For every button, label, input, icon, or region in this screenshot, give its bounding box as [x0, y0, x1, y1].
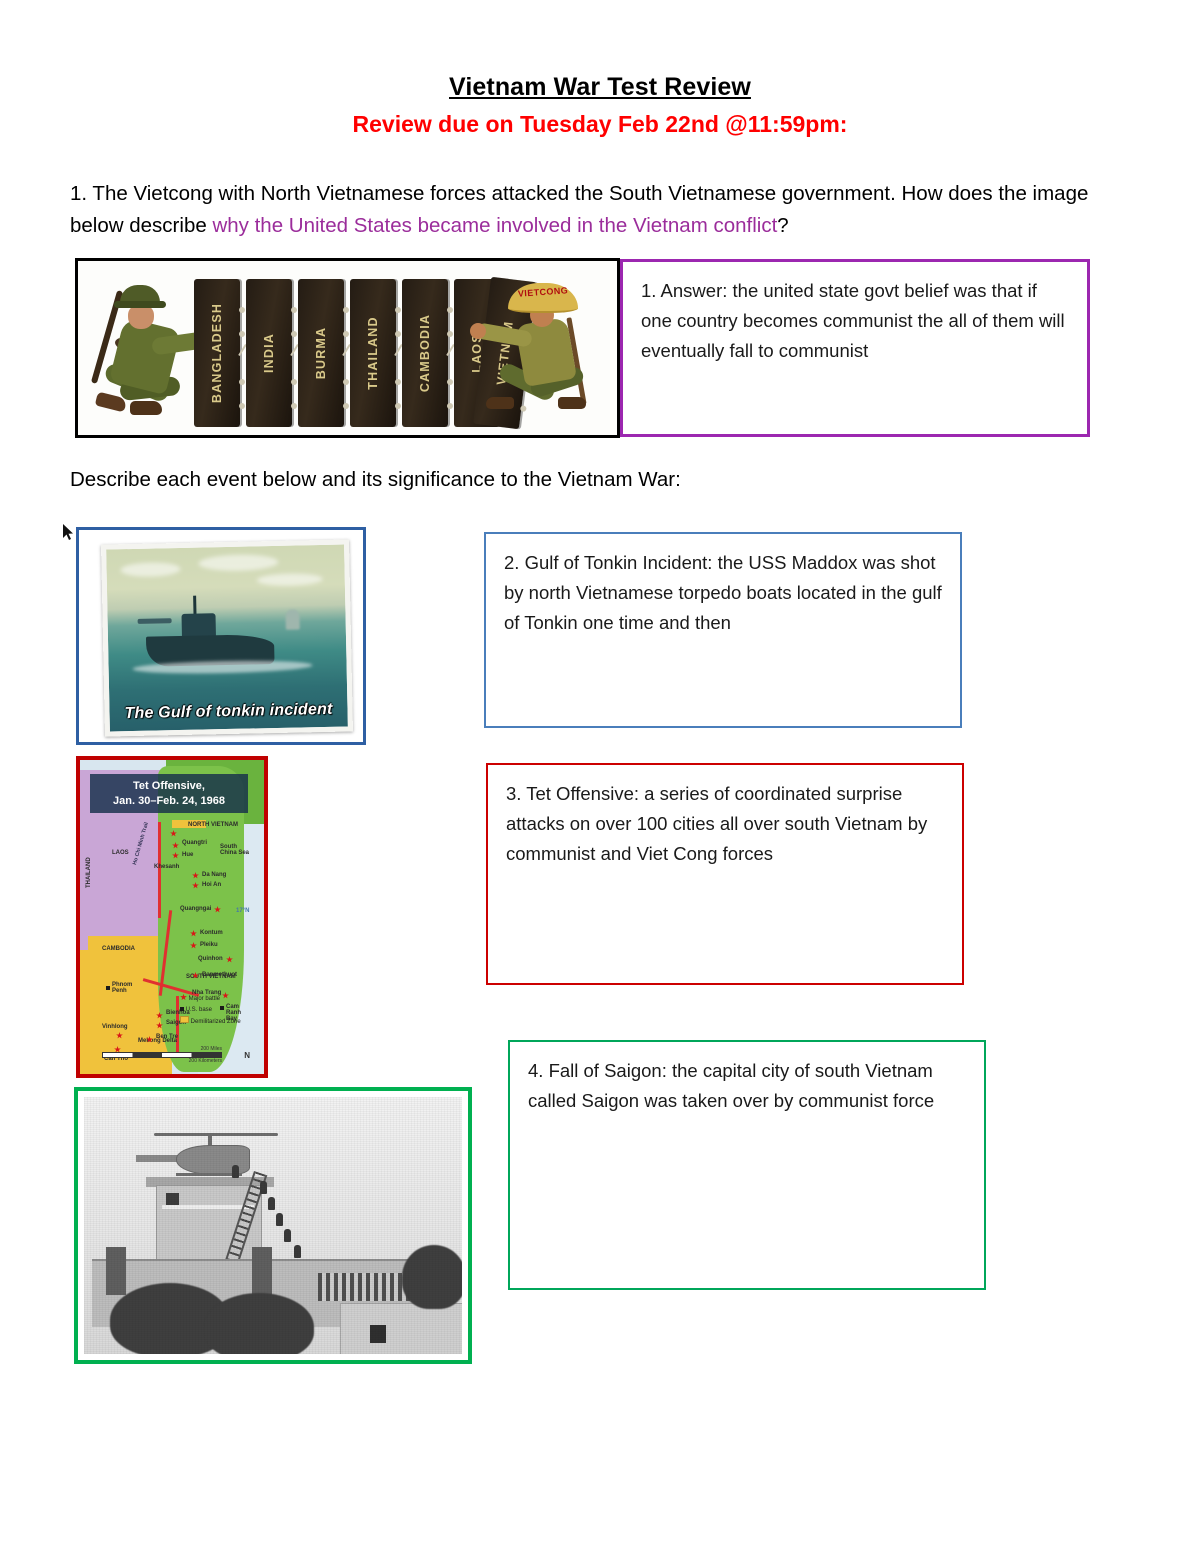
map-city-banmethuot: Banmethuot	[202, 972, 237, 978]
cloud-shape	[120, 562, 180, 577]
domino-label: THAILAND	[366, 316, 380, 389]
tonkin-image-caption: The Gulf of tonkin incident	[109, 700, 347, 723]
domino-pip	[395, 403, 401, 409]
legend-label-dmz: Demilitarized Zone	[191, 1019, 241, 1025]
domino-pip	[447, 379, 453, 385]
answer-box-1[interactable]: 1. Answer: the united state govt belief …	[620, 259, 1090, 437]
domino-pip	[447, 331, 453, 337]
answer-2-text: 2. Gulf of Tonkin Incident: the USS Madd…	[504, 552, 942, 633]
answer-1-text: 1. Answer: the united state govt belief …	[641, 280, 1065, 361]
domino-pip	[239, 403, 245, 409]
answer-box-2[interactable]: 2. Gulf of Tonkin Incident: the USS Madd…	[484, 532, 962, 728]
domino-pip	[291, 403, 297, 409]
describe-events-prompt: Describe each event below and its signif…	[70, 465, 970, 496]
answer-box-3[interactable]: 3. Tet Offensive: a series of coordinate…	[486, 763, 964, 985]
saigon-photograph	[84, 1097, 462, 1354]
page-title: Vietnam War Test Review	[0, 72, 1200, 103]
domino-tile: BANGLADESH	[194, 279, 240, 427]
soldier-boot-front	[130, 401, 162, 415]
map-label-cambodia: CAMBODIA	[102, 946, 135, 952]
map-city-ben-tre: Ben Tre	[156, 1034, 178, 1040]
document-page: Vietnam War Test Review Review due on Tu…	[0, 0, 1200, 1553]
map-title-line-1: Tet Offensive,	[94, 779, 244, 794]
map-compass-icon: N	[244, 1051, 250, 1060]
map-city-dot	[106, 986, 110, 990]
legend-row-us-base: U.S. base	[180, 1005, 241, 1016]
legend-row-dmz: Demilitarized Zone	[180, 1016, 241, 1028]
domino-label: CAMBODIA	[418, 314, 432, 392]
map-scale-bar: 200 Miles 200 Kilometers	[102, 1046, 222, 1064]
domino-label: BURMA	[314, 327, 328, 380]
domino-tile: THAILAND	[350, 279, 396, 427]
domino-tile: BURMA	[298, 279, 344, 427]
map-label-laos: LAOS	[112, 850, 129, 856]
domino-pip	[343, 331, 349, 337]
domino-label: INDIA	[262, 333, 276, 373]
map-city-pleiku: Pleiku	[200, 942, 218, 948]
domino-label: BANGLADESH	[210, 303, 224, 403]
answer-4-text: 4. Fall of Saigon: the capital city of s…	[528, 1060, 934, 1111]
domino-pip	[291, 307, 297, 313]
map-trail-line	[158, 822, 161, 918]
domino-pip	[520, 405, 527, 412]
gulf-of-tonkin-image: The Gulf of tonkin incident	[76, 527, 366, 745]
map-city-khesanh: Khesanh	[154, 864, 179, 870]
domino-tile: CAMBODIA	[402, 279, 448, 427]
domino-pip	[343, 307, 349, 313]
photo-grain-overlay	[84, 1097, 462, 1354]
answer-box-4[interactable]: 4. Fall of Saigon: the capital city of s…	[508, 1040, 986, 1290]
map-city-quangtri: Quangtri	[182, 840, 207, 846]
legend-dot-icon	[180, 1007, 184, 1011]
domino-pip	[239, 331, 245, 337]
map-label-thailand: THAILAND	[86, 857, 92, 888]
mouse-cursor-icon	[62, 523, 74, 541]
domino-pip	[239, 307, 245, 313]
tonkin-photograph: The Gulf of tonkin incident	[101, 539, 353, 736]
legend-label-major-battle: Major battle	[189, 996, 220, 1002]
map-title-plate: Tet Offensive, Jan. 30–Feb. 24, 1968	[90, 774, 248, 813]
due-date-subtitle: Review due on Tuesday Feb 22nd @11:59pm:	[0, 108, 1200, 141]
legend-row-major-battle: Major battle	[180, 993, 241, 1005]
legend-label-us-base: U.S. base	[186, 1007, 212, 1013]
distant-explosion-shape	[285, 609, 299, 629]
cloud-shape	[198, 554, 278, 572]
vietcong-hand	[470, 323, 486, 339]
question-1-text: 1. The Vietcong with North Vietnamese fo…	[70, 178, 1090, 242]
map-canvas: Tet Offensive, Jan. 30–Feb. 24, 1968 NOR…	[80, 760, 264, 1074]
domino-pip	[343, 403, 349, 409]
soldier-helmet-brim	[114, 301, 166, 308]
map-scale-km: 200 Kilometers	[102, 1058, 222, 1064]
map-city-quinhon: Quinhon	[198, 956, 223, 962]
domino-pip	[291, 331, 297, 337]
map-city-hue: Hue	[182, 852, 193, 858]
tet-offensive-map-image: Tet Offensive, Jan. 30–Feb. 24, 1968 NOR…	[76, 756, 268, 1078]
domino-pip	[447, 307, 453, 313]
question-1-highlight: why the United States became involved in…	[212, 214, 777, 237]
map-title-line-2: Jan. 30–Feb. 24, 1968	[94, 794, 244, 809]
vietcong-body	[515, 317, 577, 387]
domino-tile: INDIA	[246, 279, 292, 427]
distant-ship-shape	[138, 618, 172, 624]
domino-pip	[343, 379, 349, 385]
map-city-hoi-an: Hoi An	[202, 882, 221, 888]
soldier-face	[128, 305, 154, 329]
map-label-south-china-sea: South China Sea	[220, 844, 250, 856]
domino-pip	[291, 379, 297, 385]
map-city-da-nang: Da Nang	[202, 872, 226, 878]
map-city-kontum: Kontum	[200, 930, 223, 936]
map-city-vinhlong: Vinhlong	[102, 1024, 128, 1030]
legend-star-icon	[180, 994, 187, 1001]
answer-3-text: 3. Tet Offensive: a series of coordinate…	[506, 783, 927, 864]
map-city-phnom-penh: Phnom Penh	[112, 982, 134, 994]
map-label-17th-parallel: 17°N	[236, 908, 249, 914]
domino-pip	[447, 403, 453, 409]
title-block: Vietnam War Test Review Review due on Tu…	[0, 72, 1200, 142]
map-label-north-vietnam: NORTH VIETNAM	[188, 822, 238, 828]
map-legend: Major battle U.S. base Demilitarized Zon…	[180, 993, 241, 1028]
domino-pip	[395, 331, 401, 337]
domino-pip	[239, 379, 245, 385]
cloud-shape	[257, 573, 323, 586]
question-1-part-2: ?	[777, 214, 788, 237]
legend-dmz-swatch	[180, 1016, 189, 1023]
vietcong-boot-front	[558, 397, 586, 409]
map-city-quangngai: Quangngai	[180, 906, 211, 912]
fall-of-saigon-image	[74, 1087, 472, 1364]
domino-pip	[395, 307, 401, 313]
domino-pip	[395, 379, 401, 385]
vietcong-boot-back	[486, 397, 514, 409]
domino-theory-image: BANGLADESH INDIA BURMA	[75, 258, 620, 438]
domino-illustration: BANGLADESH INDIA BURMA	[78, 261, 617, 435]
